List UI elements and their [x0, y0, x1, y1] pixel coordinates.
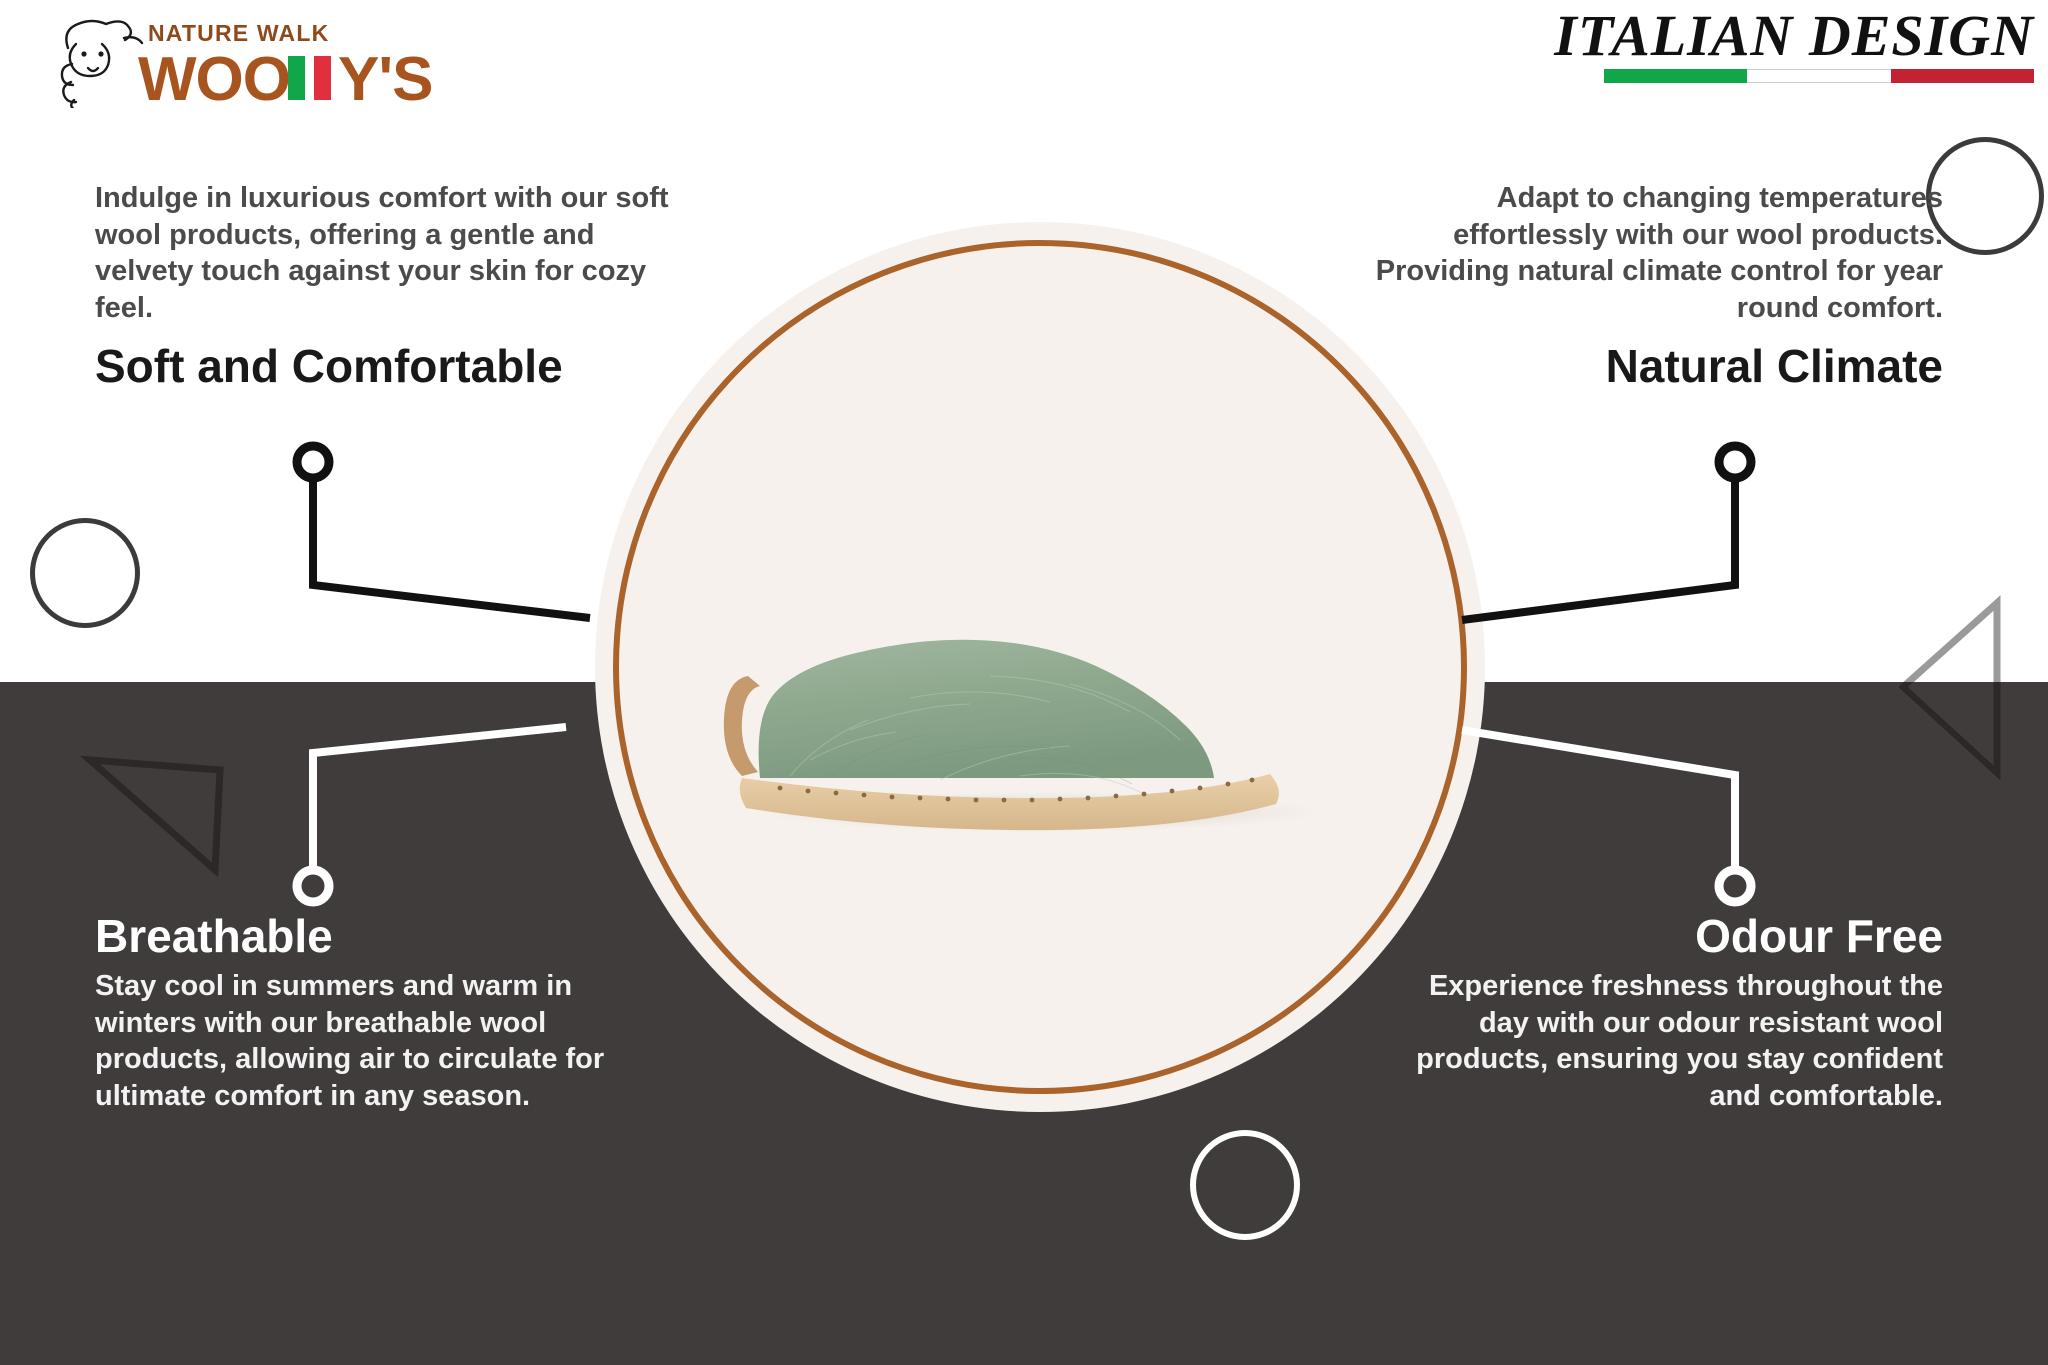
feature-heading-odour: Odour Free — [1373, 912, 1943, 960]
svg-text:WOO: WOO — [138, 45, 290, 108]
flag-stripe-red — [1891, 69, 2034, 83]
feature-block-soft: Indulge in luxurious comfort with our so… — [95, 180, 675, 390]
circle-outline-bottom-center — [1190, 1130, 1300, 1240]
feature-heading-climate: Natural Climate — [1363, 342, 1943, 390]
flag-stripe-white — [1747, 69, 1890, 83]
feature-body-breathable: Stay cool in summers and warm in winters… — [95, 968, 665, 1114]
heel-loop — [724, 676, 760, 776]
logo-tagline: NATURE WALK — [148, 20, 329, 46]
circle-outline-mid-left — [30, 518, 140, 628]
feature-heading-breathable: Breathable — [95, 912, 665, 960]
italian-design-label: ITALIAN DESIGN — [1534, 6, 2034, 65]
circle-outline-top-right — [1926, 137, 2044, 255]
feature-heading-soft: Soft and Comfortable — [95, 342, 675, 390]
italian-design-badge: ITALIAN DESIGN — [1534, 6, 2034, 83]
triangle-outline-right — [1885, 595, 2045, 785]
svg-text:Y'S: Y'S — [338, 45, 432, 108]
flag-stripe-green — [1604, 69, 1747, 83]
feature-block-climate: Adapt to changing temperatures effortles… — [1363, 180, 1943, 390]
brand-logo[interactable]: NATURE WALK WOO Y'S — [38, 8, 458, 108]
triangle-outline-left — [70, 730, 270, 910]
feature-block-breathable: Breathable Stay cool in summers and warm… — [95, 912, 665, 1114]
italian-flag-bar — [1604, 69, 2034, 83]
logo-wordmark: WOO Y'S — [138, 45, 432, 108]
product-image-slipper — [690, 580, 1390, 840]
sheep-head-icon — [62, 21, 142, 108]
feature-body-odour: Experience freshness throughout the day … — [1373, 968, 1943, 1114]
wool-upper — [759, 640, 1214, 778]
infographic-canvas: NATURE WALK WOO Y'S ITALIAN DESIGN — [0, 0, 2048, 1365]
feature-block-odour: Odour Free Experience freshness througho… — [1373, 912, 1943, 1114]
feature-body-soft: Indulge in luxurious comfort with our so… — [95, 180, 675, 326]
feature-body-climate: Adapt to changing temperatures effortles… — [1363, 180, 1943, 326]
